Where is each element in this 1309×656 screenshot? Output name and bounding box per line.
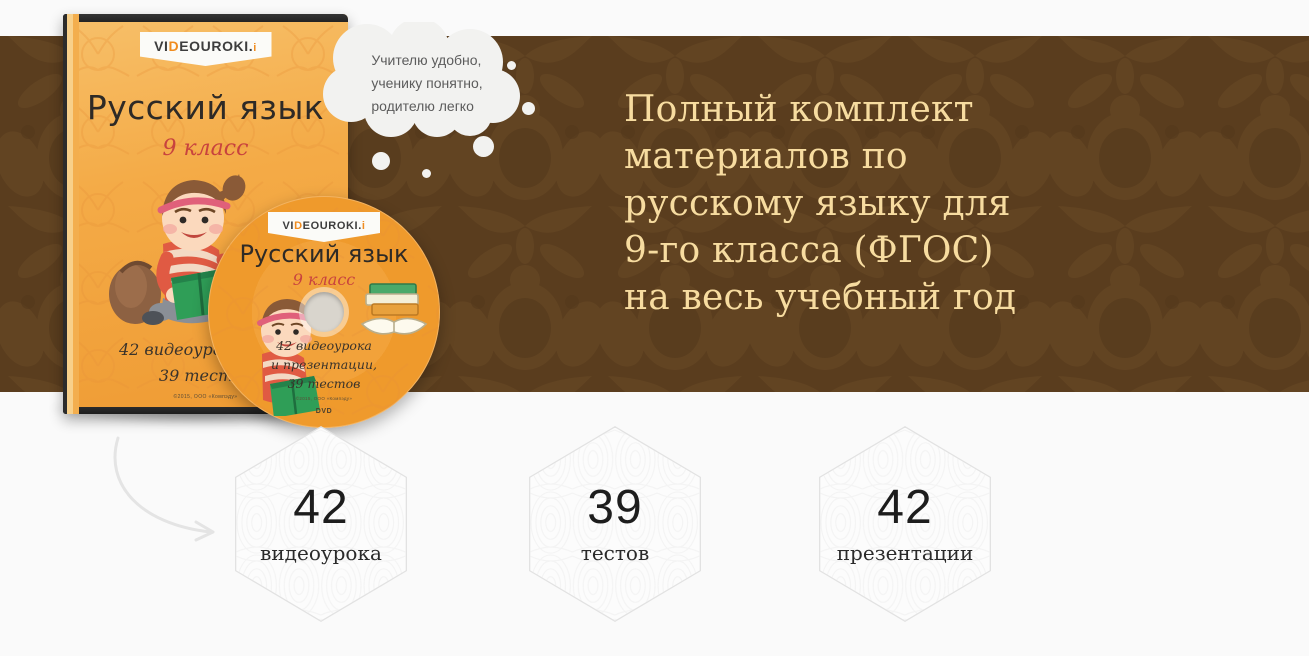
dvd-disc-icon: VIDEOUROKI.i Русский язык 9 класс	[208, 196, 440, 428]
case-top-edge	[63, 14, 348, 22]
disc-line1: 42 видеоурока	[208, 338, 440, 353]
stat-number: 42	[877, 484, 932, 532]
disc-line3: 39 тестов	[208, 376, 440, 391]
disc-center-hole	[304, 292, 344, 332]
hexagon-inner: 42 видеоурока	[236, 428, 405, 621]
bubble-dot-5	[507, 61, 516, 70]
bubble-dot-1	[372, 152, 390, 170]
promo-page: Полный комплект материалов по русскому я…	[0, 0, 1309, 656]
disc-title: Русский язык	[208, 240, 440, 268]
bubble-dot-3	[473, 136, 494, 157]
stat-label: видеоурока	[260, 541, 382, 565]
bubble-dot-2	[422, 169, 431, 178]
disc-brand-logo-text: VIDEOUROKI.i	[283, 220, 366, 232]
dvd-format-label: DVD	[208, 408, 440, 415]
brand-logo-text: VIDEOUROKI.i	[154, 38, 257, 54]
stat-label: тестов	[581, 541, 649, 565]
stat-hexagon-presentations[interactable]: 42 презентации	[819, 426, 991, 622]
thought-bubble-icon: Учителю удобно, ученику понятно, родител…	[315, 22, 525, 144]
hexagon-inner: 42 презентации	[820, 428, 989, 621]
stat-label: презентации	[837, 541, 974, 565]
case-grade: 9 класс	[63, 136, 348, 161]
hexagon-content: 42 видеоурока	[236, 428, 405, 621]
bubble-dot-4	[522, 102, 535, 115]
hexagon-inner: 39 тестов	[530, 428, 699, 621]
hero-headline: Полный комплект материалов по русскому я…	[624, 86, 1094, 321]
thought-bubble-text: Учителю удобно, ученику понятно, родител…	[315, 22, 525, 144]
stat-number: 39	[587, 484, 642, 532]
stat-hexagon-tests[interactable]: 39 тестов	[529, 426, 701, 622]
disc-copyright: ©2015, ООО «Компэду»	[208, 396, 440, 401]
stat-number: 42	[293, 484, 348, 532]
case-title: Русский язык	[63, 88, 348, 127]
stat-hexagon-videolessons[interactable]: 42 видеоурока	[235, 426, 407, 622]
hexagon-content: 39 тестов	[530, 428, 699, 621]
disc-line2: и презентации,	[208, 357, 440, 372]
hexagon-content: 42 презентации	[820, 428, 989, 621]
